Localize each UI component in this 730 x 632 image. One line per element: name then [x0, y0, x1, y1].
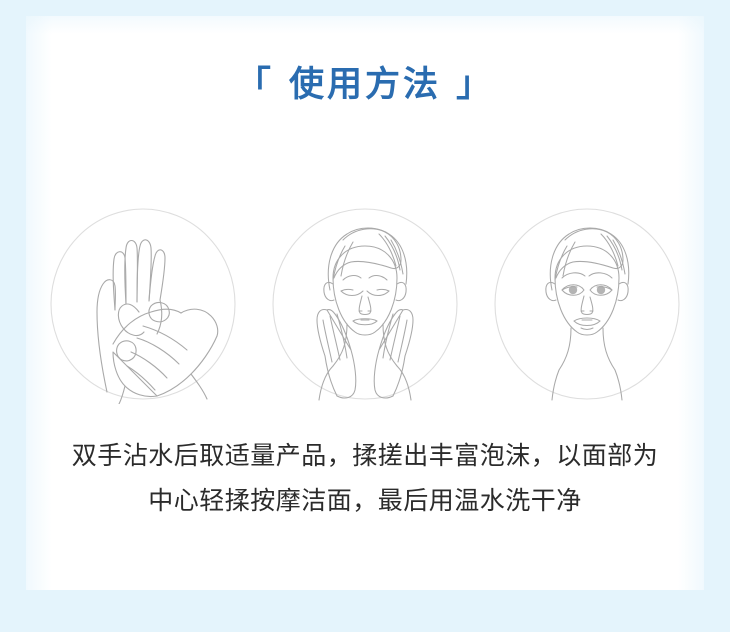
face-massage-icon	[267, 204, 463, 404]
page-title: 「 使用方法 」	[236, 68, 494, 103]
content-card: 「 使用方法 」	[26, 16, 704, 590]
hands-lathering-icon	[45, 204, 241, 404]
usage-instructions-page: 「 使用方法 」	[0, 0, 730, 632]
illustration-step-3	[489, 204, 685, 404]
instruction-caption: 双手沾水后取适量产品，揉搓出丰富泡沫，以面部为 中心轻揉按摩洁面，最后用温水洗干…	[26, 433, 704, 523]
illustration-step-2	[267, 204, 463, 404]
page-title-container: 「 使用方法 」	[26, 68, 704, 103]
clean-face-icon	[489, 204, 685, 404]
illustration-step-1	[45, 204, 241, 404]
caption-line-2: 中心轻揉按摩洁面，最后用温水洗干净	[26, 478, 704, 523]
caption-line-1: 双手沾水后取适量产品，揉搓出丰富泡沫，以面部为	[26, 433, 704, 478]
illustration-row	[26, 196, 704, 411]
